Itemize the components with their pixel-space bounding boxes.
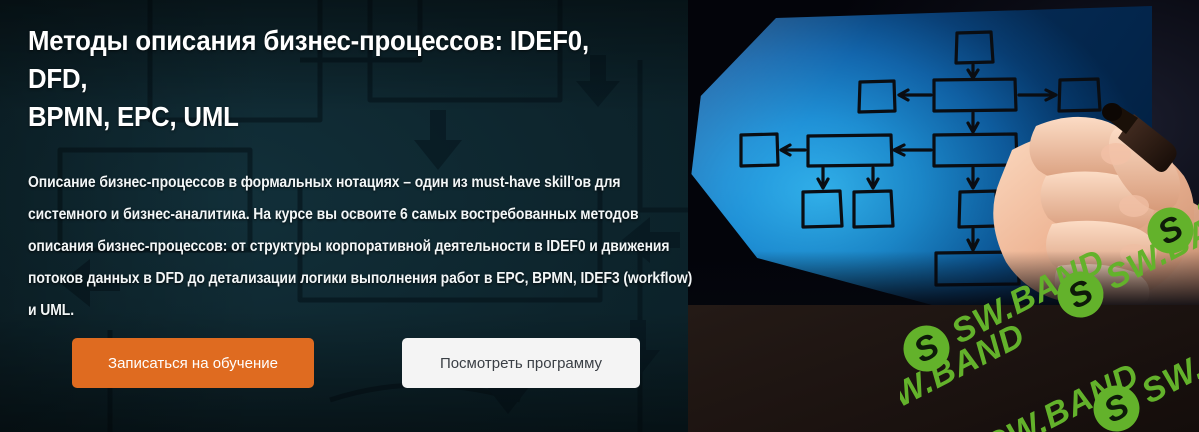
hand-with-marker-icon bbox=[940, 58, 1199, 307]
hero-photo bbox=[688, 0, 1199, 307]
view-program-button[interactable]: Посмотреть программу bbox=[402, 338, 640, 388]
hero-banner: SW.BAND SW.BAND SW.BAND SW.BAND SW.BAND … bbox=[0, 0, 1199, 432]
photo-under-strip bbox=[688, 305, 1199, 432]
hero-content: Методы описания бизнес-процессов: IDEF0,… bbox=[28, 22, 698, 327]
page-title: Методы описания бизнес-процессов: IDEF0,… bbox=[28, 22, 644, 136]
cta-row: Записаться на обучение Посмотреть програ… bbox=[72, 338, 640, 388]
hero-description: Описание бизнес-процессов в формальных н… bbox=[28, 167, 696, 327]
enroll-button[interactable]: Записаться на обучение bbox=[72, 338, 314, 388]
